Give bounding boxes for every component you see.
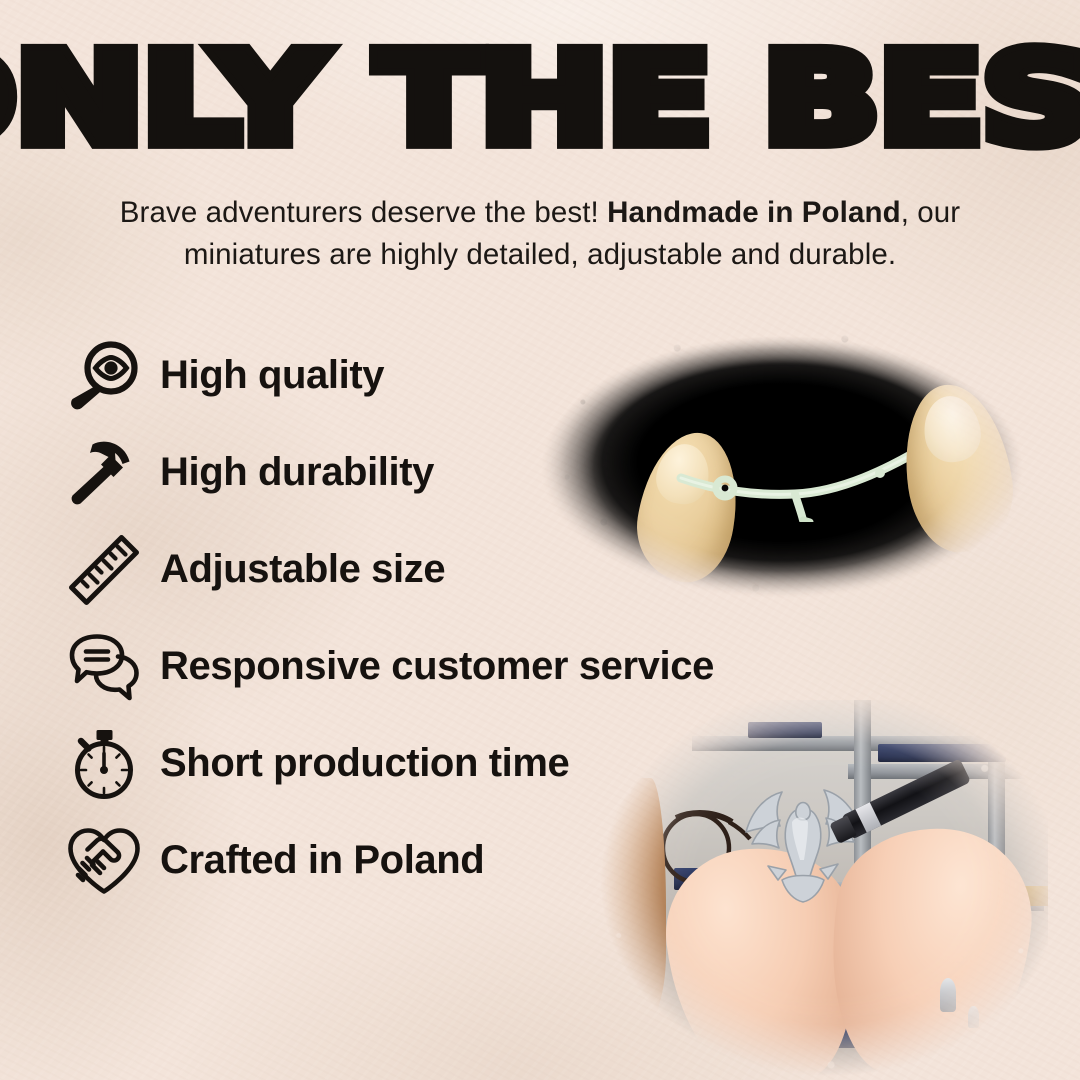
feature-label: Crafted in Poland: [160, 838, 484, 883]
flexible-miniature-demo-photo: [520, 312, 1044, 612]
headline-container: ONLY THE BEST: [0, 36, 1080, 154]
subtitle-bold-highlight: Handmade in Poland: [607, 196, 901, 229]
ruler-icon: [62, 528, 146, 612]
torn-edge-mask: [596, 700, 1048, 1080]
feature-label: High quality: [160, 353, 384, 398]
stopwatch-icon: [62, 722, 146, 806]
torn-edge-mask: [520, 312, 1044, 612]
flexible-miniature-part: [675, 432, 945, 522]
magnifier-eye-icon: [62, 334, 146, 418]
torn-edge-speckle: [596, 700, 1048, 1080]
feature-label: Short production time: [160, 741, 569, 786]
feature-label: High durability: [160, 450, 434, 495]
heart-handshake-icon: [62, 819, 146, 903]
hammer-icon: [62, 431, 146, 515]
subtitle: Brave adventurers deserve the best! Hand…: [90, 192, 990, 276]
feature-label: Responsive customer service: [160, 644, 714, 689]
speech-bubbles-icon: [62, 625, 146, 709]
subtitle-lead: Brave adventurers deserve the best!: [120, 196, 607, 229]
page-title: ONLY THE BEST: [0, 36, 1080, 161]
workshop-painting-photo: [596, 700, 1048, 1080]
feature-label: Adjustable size: [160, 547, 445, 592]
